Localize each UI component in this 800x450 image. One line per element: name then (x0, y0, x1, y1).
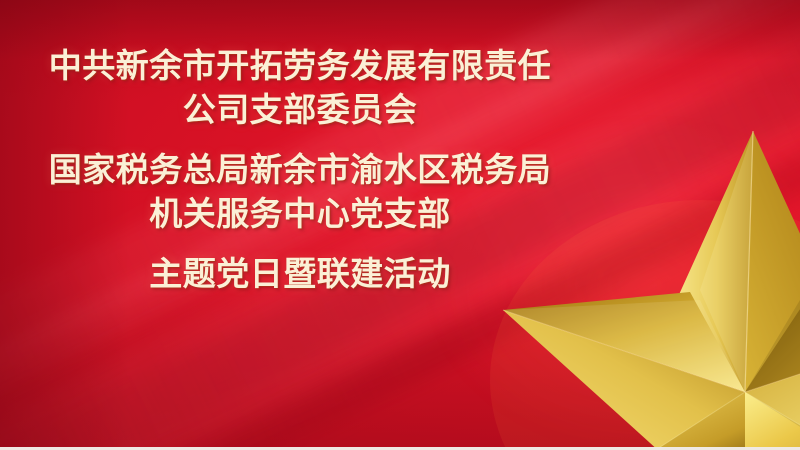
poster-canvas: 中共新余市开拓劳务发展有限责任 公司支部委员会 国家税务总局新余市渝水区税务局 … (0, 0, 800, 450)
title-line-5: 主题党日暨联建活动 (0, 252, 600, 296)
title-spacer-1 (0, 132, 600, 148)
title-line-1: 中共新余市开拓劳务发展有限责任 (0, 44, 600, 88)
title-spacer-2 (0, 236, 600, 252)
title-block: 中共新余市开拓劳务发展有限责任 公司支部委员会 国家税务总局新余市渝水区税务局 … (0, 44, 600, 296)
title-line-4: 机关服务中心党支部 (0, 192, 600, 236)
title-line-3: 国家税务总局新余市渝水区税务局 (0, 148, 600, 192)
title-line-2: 公司支部委员会 (0, 88, 600, 132)
